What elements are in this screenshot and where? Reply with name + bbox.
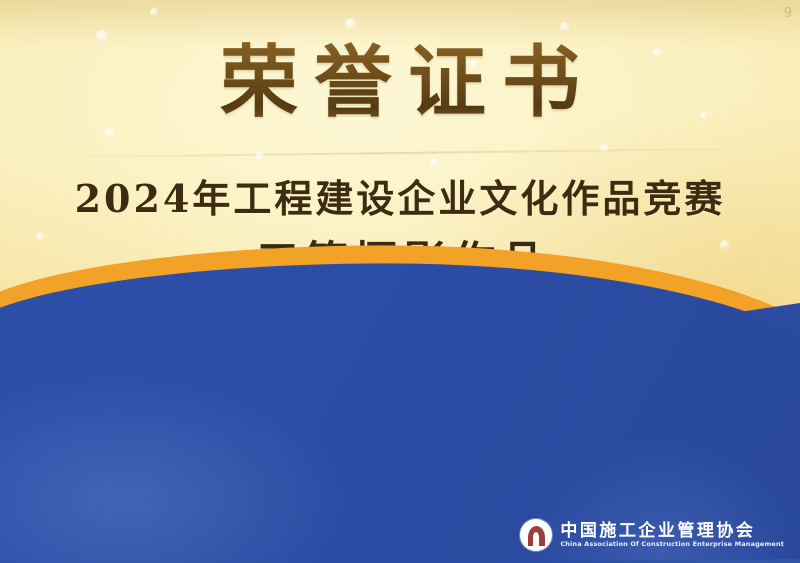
association-name-en: China Association Of Construction Enterp…: [560, 541, 784, 548]
corner-annotation: 9: [784, 6, 792, 21]
association-arch-emblem-icon: [520, 519, 552, 551]
certificate-image: 9 荣誉证书 2024年工程建设企业文化作品竞赛 三等摄影作品 作品名称：共筑梦…: [0, 0, 800, 563]
decorative-curve-blue: [0, 258, 800, 563]
association-name-cn: 中国施工企业管理协会: [560, 522, 784, 540]
competition-name: 2024年工程建设企业文化作品竞赛: [0, 168, 800, 223]
association-footer-logo: 中国施工企业管理协会 China Association Of Construc…: [520, 519, 784, 551]
band-sheen: [0, 258, 800, 563]
association-name-block: 中国施工企业管理协会 China Association Of Construc…: [560, 522, 784, 548]
page-title: 荣誉证书: [0, 40, 800, 126]
